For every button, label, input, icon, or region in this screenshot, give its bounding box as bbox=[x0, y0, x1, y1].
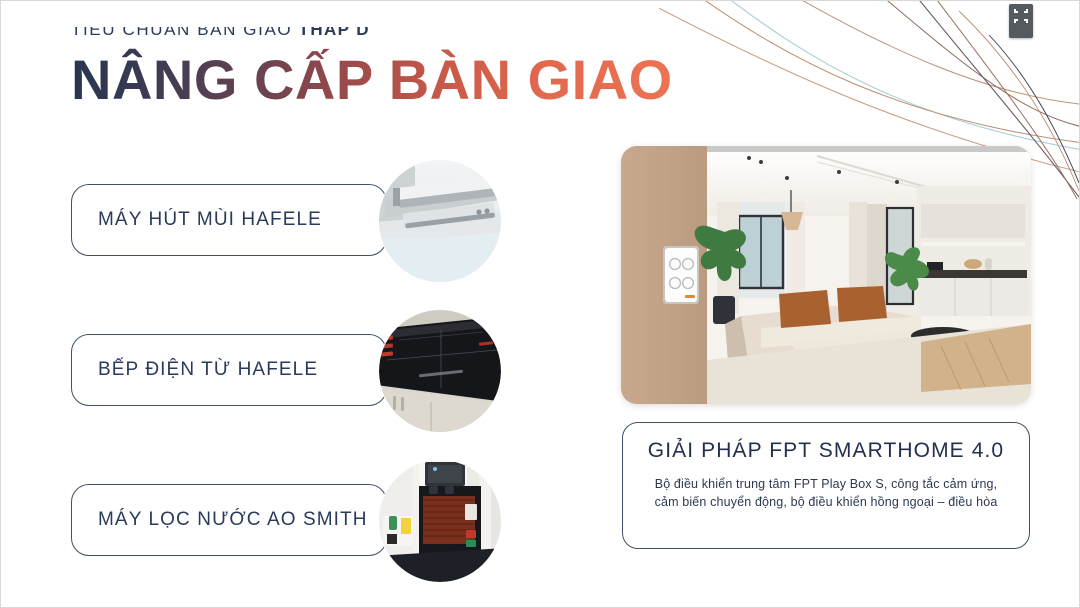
appliance-list: MÁY HÚT MÙI HAFELE bbox=[71, 184, 571, 608]
smarthome-description: Bộ điều khiển trung tâm FPT Play Box S, … bbox=[645, 475, 1007, 511]
appliance-pill-3[interactable]: MÁY LỌC NƯỚC AO SMITH bbox=[71, 484, 387, 556]
smarthome-info-card: GIẢI PHÁP FPT SMARTHOME 4.0 Bộ điều khiể… bbox=[622, 422, 1030, 549]
list-item[interactable]: MÁY HÚT MÙI HAFELE bbox=[71, 184, 571, 334]
range-hood-photo bbox=[379, 160, 501, 282]
list-item[interactable]: MÁY LỌC NƯỚC AO SMITH bbox=[71, 484, 571, 608]
list-item[interactable]: BẾP ĐIỆN TỪ HAFELE bbox=[71, 334, 571, 484]
eyebrow-text: TIÊU CHUẨN BÀN GIAO THÁP D bbox=[71, 19, 673, 41]
smarthome-title: GIẢI PHÁP FPT SMARTHOME 4.0 bbox=[645, 437, 1007, 465]
exit-fullscreen-icon bbox=[1013, 8, 1029, 24]
appliance-pill-1[interactable]: MÁY HÚT MÙI HAFELE bbox=[71, 184, 387, 256]
water-purifier-photo bbox=[379, 460, 501, 582]
appliance-label: BẾP ĐIỆN TỪ HAFELE bbox=[72, 359, 318, 381]
induction-cooktop-photo bbox=[379, 310, 501, 432]
exit-fullscreen-button[interactable] bbox=[1009, 4, 1033, 38]
appliance-label: MÁY HÚT MÙI HAFELE bbox=[72, 209, 322, 231]
eyebrow-prefix: TIÊU CHUẨN BÀN GIAO bbox=[71, 20, 299, 39]
page-header: TIÊU CHUẨN BÀN GIAO THÁP D NÂNG CẤP BÀN … bbox=[71, 19, 673, 113]
smarthome-photo bbox=[621, 146, 1031, 404]
slide-canvas: TIÊU CHUẨN BÀN GIAO THÁP D NÂNG CẤP BÀN … bbox=[0, 0, 1080, 608]
eyebrow-bold: THÁP D bbox=[299, 20, 370, 39]
page-title: NÂNG CẤP BÀN GIAO bbox=[71, 47, 673, 113]
appliance-label: MÁY LỌC NƯỚC AO SMITH bbox=[72, 509, 368, 531]
appliance-pill-2[interactable]: BẾP ĐIỆN TỪ HAFELE bbox=[71, 334, 387, 406]
